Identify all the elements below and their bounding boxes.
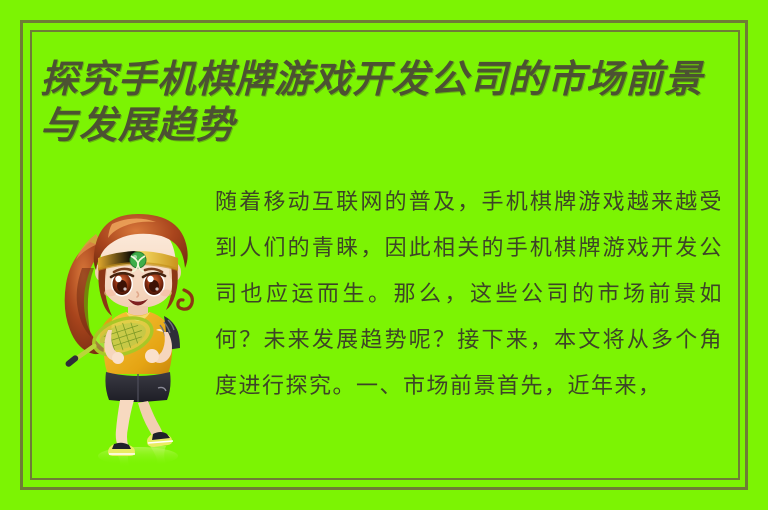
mascot-shoe-left xyxy=(108,443,135,456)
mascot-shoe-right xyxy=(147,432,173,447)
page-title: 探究手机棋牌游戏开发公司的市场前景与发展趋势 xyxy=(40,56,740,148)
article-body: 随着移动互联网的普及，手机棋牌游戏越来越受到人们的青睐，因此相关的手机棋牌游戏开… xyxy=(215,180,723,410)
mascot-hand-right xyxy=(145,349,159,363)
mascot-blush-left xyxy=(104,290,116,297)
poster-canvas: 探究手机棋牌游戏开发公司的市场前景与发展趋势 随着移动互联网的普及，手机棋牌游戏… xyxy=(0,0,768,510)
mascot-hand-left xyxy=(112,352,124,364)
mascot-blush-right xyxy=(160,290,172,297)
mascot-shorts xyxy=(105,372,170,402)
chibi-badminton-girl-illustration xyxy=(52,198,224,470)
